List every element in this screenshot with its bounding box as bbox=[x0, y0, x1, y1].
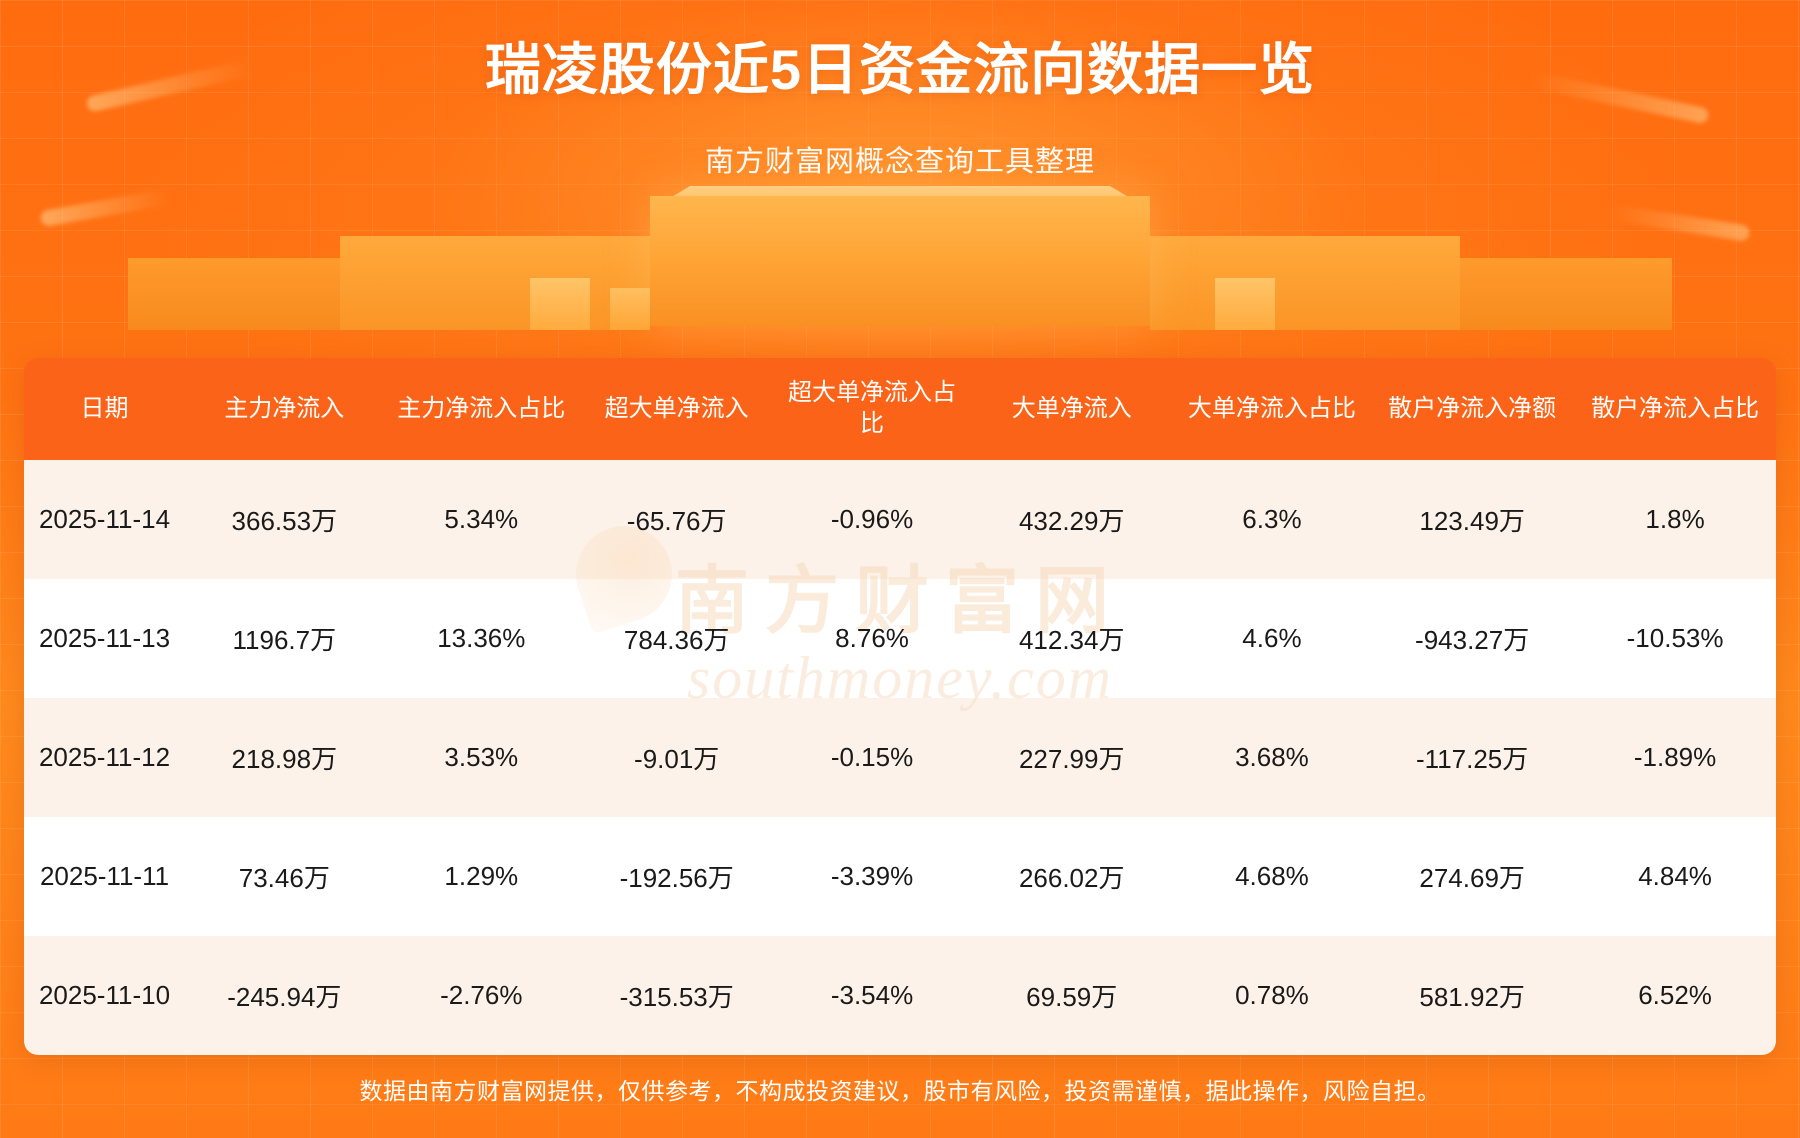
cell-retail-net: 123.49万 bbox=[1370, 460, 1574, 579]
cell-lg-net: 266.02万 bbox=[970, 817, 1174, 936]
podium-block-small-b bbox=[610, 288, 650, 330]
cell-main-net: 366.53万 bbox=[185, 460, 384, 579]
podium-block-left bbox=[340, 236, 650, 330]
cell-date: 2025-11-11 bbox=[24, 817, 185, 936]
cell-xl-pct: -3.39% bbox=[774, 817, 969, 936]
cell-lg-pct: 4.6% bbox=[1174, 579, 1370, 698]
column-header-xl-net: 超大单净流入 bbox=[579, 358, 774, 460]
cell-main-pct: 13.36% bbox=[384, 579, 579, 698]
cell-xl-net: -65.76万 bbox=[579, 460, 774, 579]
cell-main-net: 1196.7万 bbox=[185, 579, 384, 698]
footer-disclaimer: 数据由南方财富网提供，仅供参考，不构成投资建议，股市有风险，投资需谨慎，据此操作… bbox=[0, 1072, 1800, 1106]
table-row: 2025-11-12 218.98万 3.53% -9.01万 -0.15% 2… bbox=[24, 698, 1776, 817]
page-title: 瑞凌股份近5日资金流向数据一览 bbox=[0, 38, 1800, 102]
fund-flow-table: 日期 主力净流入 主力净流入占比 超大单净流入 超大单净流入占比 大单净流入 大… bbox=[24, 358, 1776, 1055]
cell-retail-pct: 1.8% bbox=[1574, 460, 1776, 579]
podium-block-center bbox=[650, 196, 1150, 326]
cell-date: 2025-11-10 bbox=[24, 936, 185, 1055]
column-header-date: 日期 bbox=[24, 358, 185, 460]
cell-main-net: 218.98万 bbox=[185, 698, 384, 817]
cell-date: 2025-11-14 bbox=[24, 460, 185, 579]
column-header-retail-pct: 散户净流入占比 bbox=[1574, 358, 1776, 460]
podium-block-right bbox=[1150, 236, 1460, 330]
cell-lg-net: 227.99万 bbox=[970, 698, 1174, 817]
cell-main-pct: -2.76% bbox=[384, 936, 579, 1055]
table-row: 2025-11-10 -245.94万 -2.76% -315.53万 -3.5… bbox=[24, 936, 1776, 1055]
column-header-lg-net: 大单净流入 bbox=[970, 358, 1174, 460]
column-header-main-pct: 主力净流入占比 bbox=[384, 358, 579, 460]
podium-block-small-c bbox=[1215, 278, 1275, 330]
cell-xl-pct: 8.76% bbox=[774, 579, 969, 698]
column-header-xl-pct: 超大单净流入占比 bbox=[774, 358, 969, 460]
column-header-lg-pct: 大单净流入占比 bbox=[1174, 358, 1370, 460]
cell-main-pct: 3.53% bbox=[384, 698, 579, 817]
column-header-retail-net: 散户净流入净额 bbox=[1370, 358, 1574, 460]
cell-retail-pct: -10.53% bbox=[1574, 579, 1776, 698]
data-table-card: 南方财富网 southmoney.com 日期 主力净流入 主力净流入占比 超大… bbox=[24, 358, 1776, 1055]
cell-xl-net: 784.36万 bbox=[579, 579, 774, 698]
table-row: 2025-11-13 1196.7万 13.36% 784.36万 8.76% … bbox=[24, 579, 1776, 698]
cell-main-net: 73.46万 bbox=[185, 817, 384, 936]
cell-retail-pct: 4.84% bbox=[1574, 817, 1776, 936]
page-subtitle: 南方财富网概念查询工具整理 bbox=[0, 138, 1800, 180]
cell-date: 2025-11-13 bbox=[24, 579, 185, 698]
cell-retail-pct: -1.89% bbox=[1574, 698, 1776, 817]
cell-xl-net: -9.01万 bbox=[579, 698, 774, 817]
table-body: 2025-11-14 366.53万 5.34% -65.76万 -0.96% … bbox=[24, 460, 1776, 1055]
cell-xl-net: -315.53万 bbox=[579, 936, 774, 1055]
cell-xl-pct: -0.96% bbox=[774, 460, 969, 579]
cell-date: 2025-11-12 bbox=[24, 698, 185, 817]
table-row: 2025-11-14 366.53万 5.34% -65.76万 -0.96% … bbox=[24, 460, 1776, 579]
cell-lg-pct: 0.78% bbox=[1174, 936, 1370, 1055]
podium-block-small-a bbox=[530, 278, 590, 330]
cell-retail-net: 581.92万 bbox=[1370, 936, 1574, 1055]
cell-lg-pct: 6.3% bbox=[1174, 460, 1370, 579]
table-row: 2025-11-11 73.46万 1.29% -192.56万 -3.39% … bbox=[24, 817, 1776, 936]
table-header-row: 日期 主力净流入 主力净流入占比 超大单净流入 超大单净流入占比 大单净流入 大… bbox=[24, 358, 1776, 460]
cell-xl-pct: -0.15% bbox=[774, 698, 969, 817]
cell-main-pct: 1.29% bbox=[384, 817, 579, 936]
cell-lg-net: 432.29万 bbox=[970, 460, 1174, 579]
cell-retail-pct: 6.52% bbox=[1574, 936, 1776, 1055]
cell-main-net: -245.94万 bbox=[185, 936, 384, 1055]
column-header-main-net: 主力净流入 bbox=[185, 358, 384, 460]
header-block: 瑞凌股份近5日资金流向数据一览 南方财富网概念查询工具整理 bbox=[0, 38, 1800, 180]
cell-retail-net: -117.25万 bbox=[1370, 698, 1574, 817]
cell-lg-net: 69.59万 bbox=[970, 936, 1174, 1055]
cell-lg-pct: 4.68% bbox=[1174, 817, 1370, 936]
cell-lg-net: 412.34万 bbox=[970, 579, 1174, 698]
cell-main-pct: 5.34% bbox=[384, 460, 579, 579]
cell-xl-pct: -3.54% bbox=[774, 936, 969, 1055]
cell-xl-net: -192.56万 bbox=[579, 817, 774, 936]
cell-retail-net: 274.69万 bbox=[1370, 817, 1574, 936]
cell-retail-net: -943.27万 bbox=[1370, 579, 1574, 698]
cell-lg-pct: 3.68% bbox=[1174, 698, 1370, 817]
